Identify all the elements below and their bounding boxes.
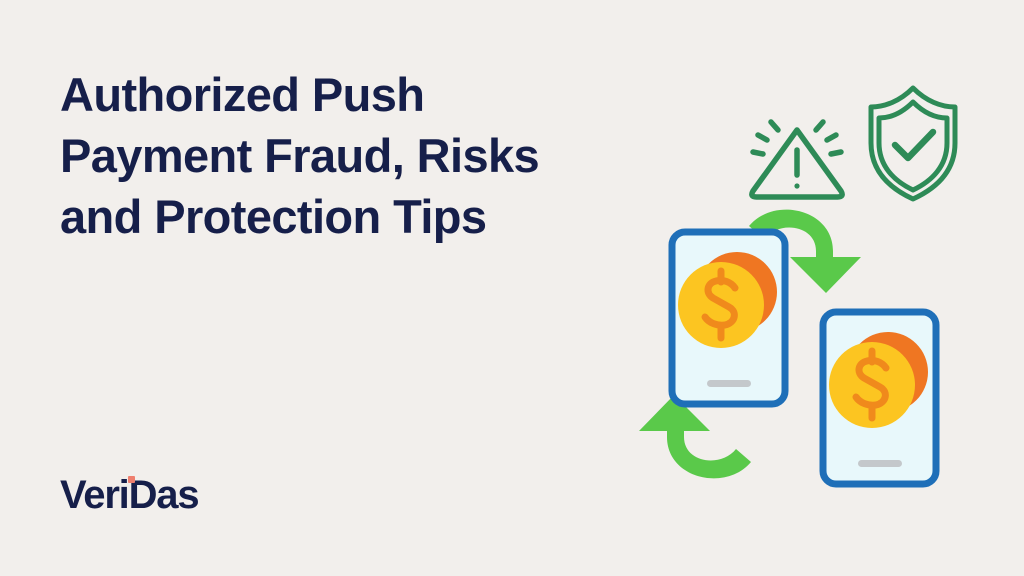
warning-triangle-icon [752, 122, 842, 197]
smartphone-payment-icon-1 [672, 232, 785, 404]
apf-fraud-illustration [645, 60, 985, 510]
veridas-logo: VeriDas [60, 474, 198, 516]
logo-wordmark: VeriDas [60, 474, 198, 516]
phone-home-bar-2 [858, 460, 902, 467]
smartphone-payment-icon-2 [823, 312, 936, 484]
page-title: Authorized Push Payment Fraud, Risks and… [60, 64, 620, 247]
logo-i-dot-icon [128, 476, 135, 483]
curved-arrow-right-icon [639, 395, 751, 478]
shield-check-icon [871, 88, 955, 199]
title-line-3: and Protection Tips [60, 186, 620, 247]
phone-home-bar-1 [707, 380, 751, 387]
slide-canvas: Authorized Push Payment Fraud, Risks and… [0, 0, 1024, 576]
title-line-1: Authorized Push [60, 64, 620, 125]
title-line-2: Payment Fraud, Risks [60, 125, 620, 186]
